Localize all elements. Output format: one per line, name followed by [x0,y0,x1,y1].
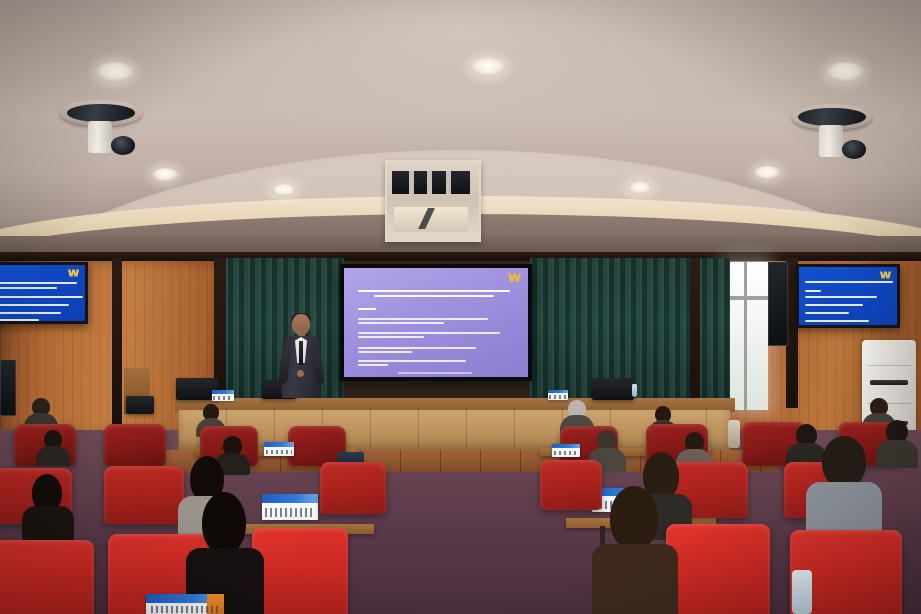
auditorium-scene [0,0,921,614]
ac-seam [867,365,910,366]
name-card-band [548,390,568,393]
university-crest-icon [67,268,80,278]
slide-title-line [358,290,510,292]
av-unit-pole [88,121,113,153]
monitor-text-line [0,304,69,306]
thermos-tumbler [728,420,740,448]
audience-person [876,420,918,466]
audience-person [592,486,678,614]
monitor-text-line [805,290,821,292]
monitor-slide-surface [0,265,85,321]
name-card-text [554,451,579,455]
wall-pillar-dark [112,258,122,430]
wall-speaker-left [0,360,16,416]
slide-bullet-line [358,347,476,349]
head-table-monitor [592,378,634,400]
name-card-text [549,395,567,398]
ceiling-mounted-projector [385,160,477,238]
presenter [279,314,323,398]
av-unit-lens-icon [111,136,136,155]
person-shoulders [876,440,918,468]
name-card-band [212,390,234,394]
auditorium-seat[interactable] [104,424,166,466]
name-card-band [552,444,580,448]
person-head [610,486,658,550]
desk-name-card [262,494,318,520]
wall-trim-dark [0,252,921,261]
monitor-text-line [0,312,61,314]
stage-curtain-far-right [700,258,730,410]
presenter-hand [297,370,304,377]
name-card-band [264,442,294,447]
ceiling-downlight [152,168,178,181]
wall-speaker-right [768,262,788,346]
head-table-name-card [548,390,568,400]
window-frame-mullion [744,262,747,410]
slide-bullet-line [358,351,412,353]
person-head [822,436,866,488]
monitor-text-line [805,312,849,314]
slide-title-line [374,295,494,297]
auditorium-seat[interactable] [0,540,94,614]
name-card-text [266,450,292,455]
av-unit-lens-icon [842,140,866,159]
name-card-text [265,508,314,517]
water-bottle [632,384,637,397]
side-monitor-right[interactable] [796,264,900,328]
auditorium-seat[interactable] [666,524,770,614]
audience-person [36,430,70,464]
window-frame-mullion [726,296,768,300]
projector-fin [427,171,432,194]
slide-bullet-line [358,322,444,324]
person-head [202,492,246,554]
monitor-text-line [0,287,57,289]
side-monitor-left[interactable] [0,262,88,324]
presenter-tie [299,341,303,365]
ac-vent-icon [870,380,909,385]
projector-fin [409,171,414,194]
head-table-name-card [212,390,234,401]
name-card-text [213,396,232,400]
desk-name-card [264,442,294,456]
name-card-band [262,494,318,503]
av-unit-body [798,108,865,127]
slide-bullet-line [358,318,488,320]
slide-section-heading [358,308,376,310]
audience-person [806,436,882,534]
window-daylight [726,262,768,410]
monitor-text-line [805,320,869,322]
auditorium-seat[interactable] [320,462,386,514]
ceiling-downlight [470,58,506,76]
university-crest-icon [879,270,892,280]
ceiling-downlight [754,166,780,179]
person-shoulders [806,482,882,536]
slide-bullet-line [358,332,500,334]
person-shoulders [36,446,70,466]
monitor-text-line [0,319,39,321]
slide-surface [344,268,528,377]
ceiling-downlight [826,62,864,82]
av-unit-pole [819,125,843,157]
desk-name-card [146,594,224,614]
monitor-text-line [805,304,863,306]
ceiling-downlight [272,184,296,196]
water-bottle [792,570,812,614]
desk-name-card [552,444,580,457]
projector-brand-mark [409,208,446,228]
monitor-text-line [0,296,83,298]
slide-bullet-line [358,336,424,338]
monitor-text-line [805,296,877,298]
ceiling-projector-unit-left [60,100,142,162]
monitor-text-line [805,281,893,283]
person-shoulders [592,544,678,614]
ceiling-downlight [96,62,134,82]
university-crest-icon [507,272,522,283]
slide-bullet-line [358,364,388,366]
head-table-monitor [126,396,154,414]
projector-fin [446,171,451,194]
audience-person [22,474,74,538]
monitor-text-line [0,282,77,284]
monitor-slide-surface [799,267,897,325]
main-projection-screen[interactable] [340,264,532,381]
slide-bullet-line [358,360,466,362]
name-card-text [151,606,220,613]
auditorium-seat[interactable] [252,528,348,614]
ceiling-projector-unit-right [792,104,872,166]
auditorium-seat[interactable] [104,466,184,524]
ceiling-downlight [628,182,652,194]
slide-footer-line [398,372,472,374]
person-shoulders [22,506,74,540]
